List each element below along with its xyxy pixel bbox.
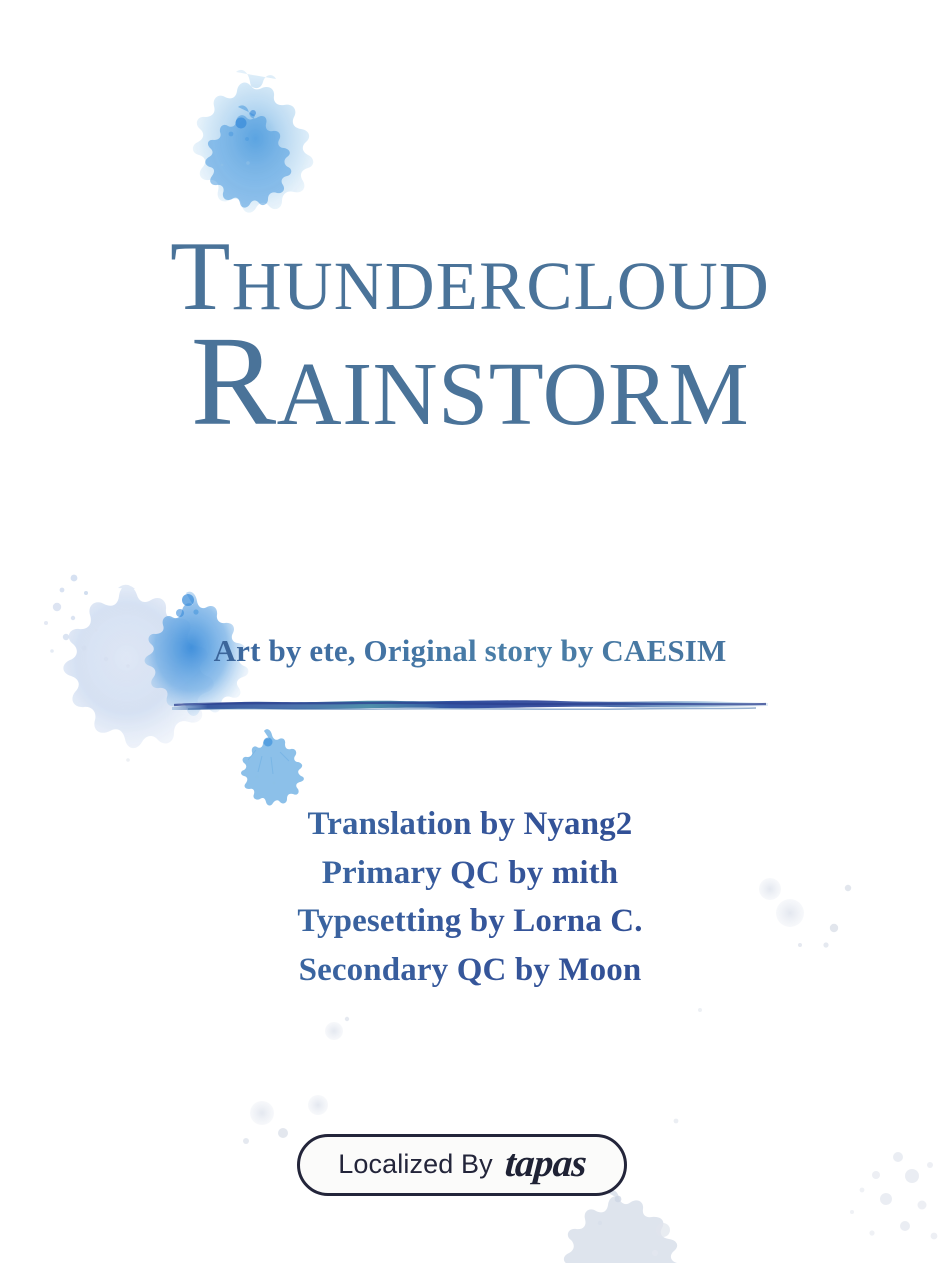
credit-line-secondary-qc: Secondary QC by Moon — [0, 946, 940, 995]
credit-line-translation: Translation by Nyang2 — [0, 800, 940, 849]
brush-divider — [170, 694, 770, 716]
credit-line-primary-qc: Primary QC by mith — [0, 849, 940, 898]
splatter-under-divider — [241, 729, 304, 805]
splatter-corner-speckle — [850, 1152, 937, 1239]
splatter-below-badge — [564, 1190, 683, 1263]
title-line-rainstorm: Rainstorm — [0, 319, 940, 444]
splatter-faint-cluster-left — [243, 1017, 349, 1144]
splatter-top-left — [193, 70, 313, 213]
staff-credits: Translation by Nyang2 Primary QC by mith… — [0, 800, 940, 994]
tapas-wordmark: tapas — [503, 1144, 587, 1187]
byline-credit: Art by ete, Original story by CAESIM — [0, 633, 940, 669]
badge-label: Localized By — [338, 1151, 492, 1180]
credit-line-typesetting: Typesetting by Lorna C. — [0, 897, 940, 946]
localized-by-badge[interactable]: Localized By tapas — [297, 1134, 627, 1196]
page-title: Thundercloud Rainstorm — [0, 228, 940, 444]
title-credits-page: Thundercloud Rainstorm Art by ete, Origi… — [0, 0, 940, 1263]
watercolor-splatter-layer — [0, 0, 940, 1263]
